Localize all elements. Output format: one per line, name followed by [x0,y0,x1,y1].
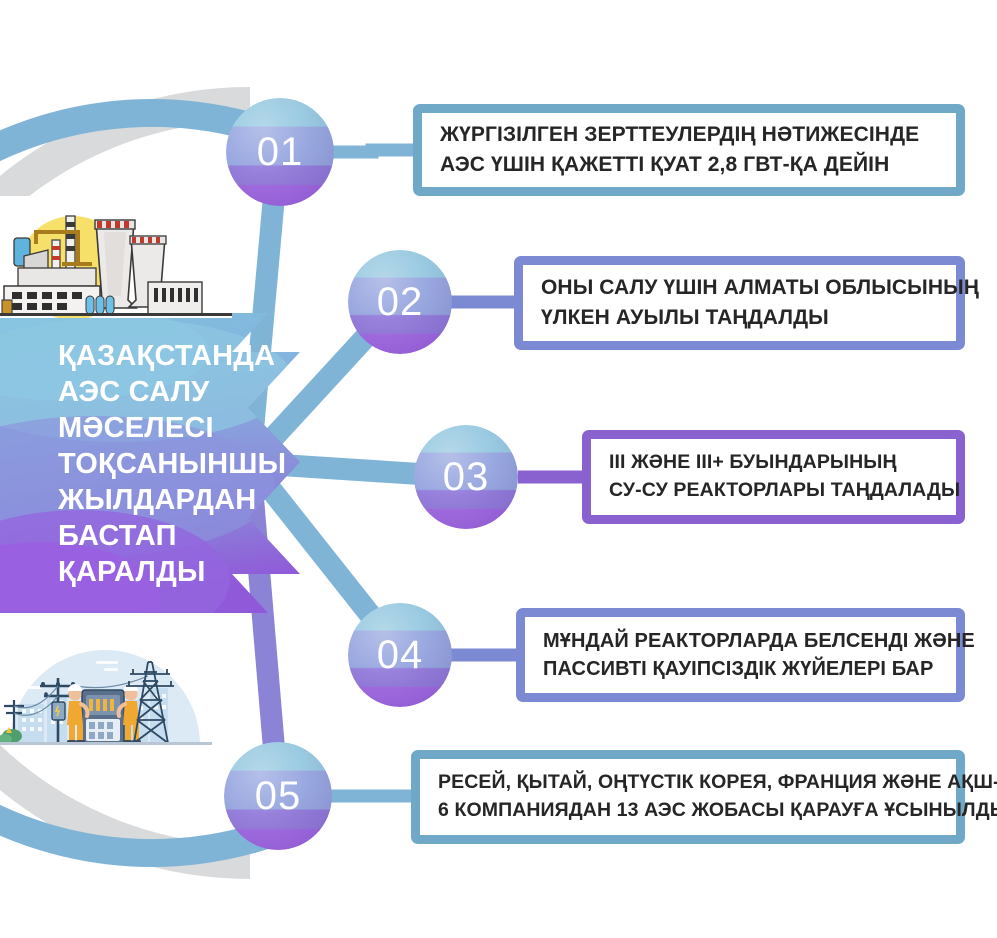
step-text-box-01[interactable]: ЖҮРГІЗІЛГЕН ЗЕРТТЕУЛЕРДІҢ НӘТИЖЕСІНДЕ АЭ… [413,104,965,196]
step-text-line: III ЖӘНЕ III+ БУЫНДАРЫНЫҢ [609,449,938,477]
step-node-05[interactable]: 05 [224,742,332,850]
nuclear-power-plant-illustration [0,196,232,320]
title-panel-shape [0,304,300,658]
step-text-line: РЕСЕЙ, ҚЫТАЙ, ОҢТҮСТІК КОРЕЯ, ФРАНЦИЯ ЖӘ… [438,769,938,797]
step-text-box-02[interactable]: ОНЫ САЛУ ҮШІН АЛМАТЫ ОБЛЫСЫНЫҢ ҮЛКЕН АУЫ… [514,256,965,350]
step-text-box-03[interactable]: III ЖӘНЕ III+ БУЫНДАРЫНЫҢ СУ-СУ РЕАКТОРЛ… [582,430,965,524]
step-text-box-04[interactable]: МҰНДАЙ РЕАКТОРЛАРДА БЕЛСЕНДІ ЖӘНЕ ПАССИВ… [516,608,965,702]
step-text-line: СУ-СУ РЕАКТОРЛАРЫ ТАҢДАЛАДЫ [609,477,938,505]
step-node-04[interactable]: 04 [348,603,452,707]
step-node-01[interactable]: 01 [226,98,334,206]
step-text-line: ЖҮРГІЗІЛГЕН ЗЕРТТЕУЛЕРДІҢ НӘТИЖЕСІНДЕ [440,120,938,150]
step-text-box-05[interactable]: РЕСЕЙ, ҚЫТАЙ, ОҢТҮСТІК КОРЕЯ, ФРАНЦИЯ ЖӘ… [411,750,965,844]
step-text-line: ОНЫ САЛУ ҮШІН АЛМАТЫ ОБЛЫСЫНЫҢ [541,273,938,303]
step-text-line: 6 КОМПАНИЯДАН 13 АЭС ЖОБАСЫ ҚАРАУҒА ҰСЫН… [438,797,938,825]
step-text-line: ПАССИВТІ ҚАУІПСІЗДІК ЖҮЙЕЛЕРІ БАР [543,655,938,683]
step-number-label: 01 [257,132,304,172]
step-number-label: 04 [377,635,424,675]
infographic-canvas: ҚАЗАҚСТАНДА АЭС САЛУ МӘСЕЛЕСІ ТОҚСАНЫНШЫ… [0,0,997,938]
electrical-grid-workers-illustration [0,625,212,745]
step-number-label: 05 [255,776,302,816]
step-node-02[interactable]: 02 [348,250,452,354]
step-number-label: 03 [443,457,490,497]
step-number-label: 02 [377,282,424,322]
step-node-03[interactable]: 03 [414,425,518,529]
step-text-line: МҰНДАЙ РЕАКТОРЛАРДА БЕЛСЕНДІ ЖӘНЕ [543,627,938,655]
step-text-line: АЭС ҮШІН ҚАЖЕТТІ ҚУАТ 2,8 ГВТ-ҚА ДЕЙІН [440,150,938,180]
step-text-line: ҮЛКЕН АУЫЛЫ ТАҢДАЛДЫ [541,303,938,333]
